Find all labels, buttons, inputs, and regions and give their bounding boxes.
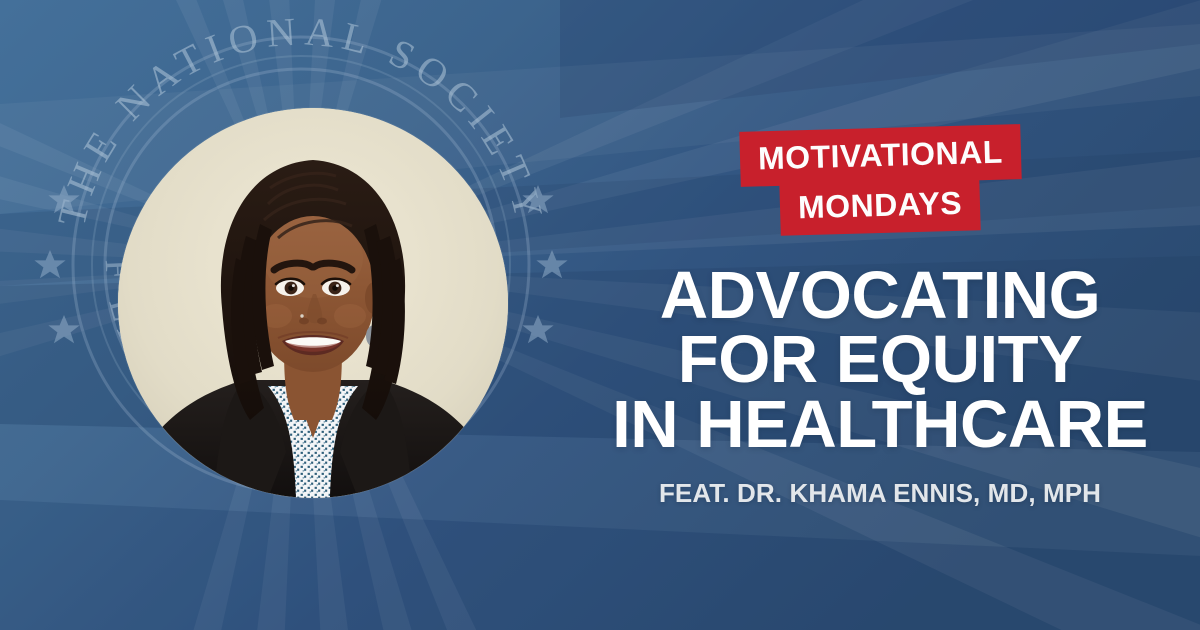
series-badge: MOTIVATIONAL MONDAYS [740,128,1021,233]
featured-speaker-subtitle: FEAT. DR. KHAMA ENNIS, MD, MPH [659,478,1101,509]
headline-line-1: ADVOCATING [612,264,1148,328]
headline-line-3: IN HEALTHCARE [612,393,1148,457]
headline: ADVOCATING FOR EQUITY IN HEALTHCARE [612,264,1148,457]
promo-graphic: THE NATIONAL SOCIETY OF LEADERSHIP AND S… [0,0,1200,630]
series-badge-line-1: MOTIVATIONAL [739,124,1021,187]
headline-line-2: FOR EQUITY [612,328,1148,392]
content-panel: MOTIVATIONAL MONDAYS ADVOCATING FOR EQUI… [560,0,1200,630]
speaker-portrait [118,108,508,498]
